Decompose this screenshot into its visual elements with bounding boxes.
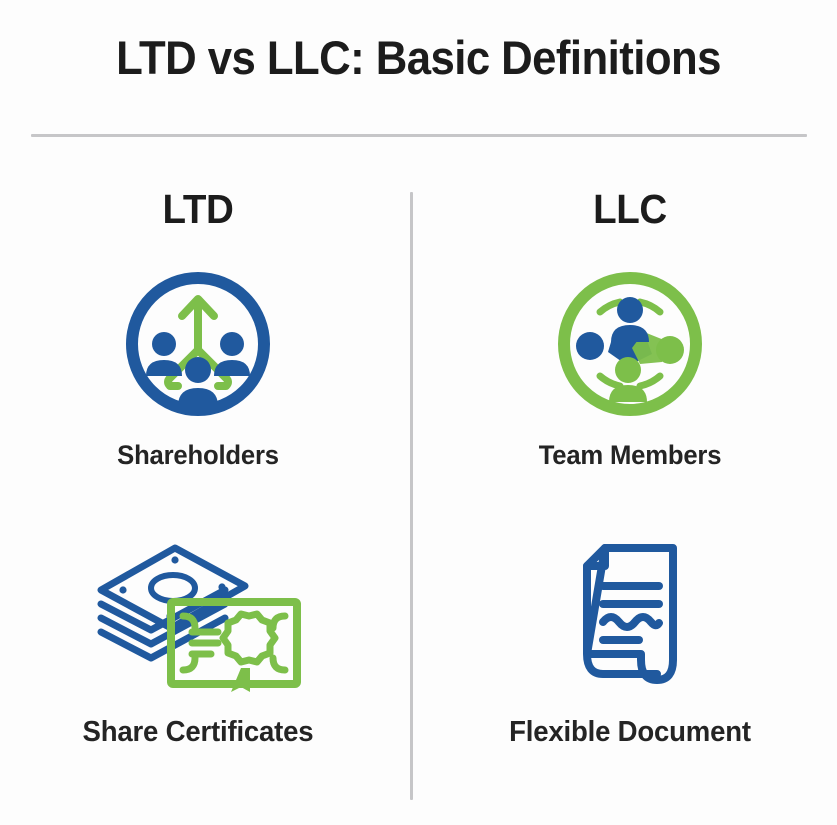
- shareholders-circle-icon: [120, 266, 276, 422]
- shareholders-icon-container: [8, 264, 388, 424]
- document-text-lines: [603, 586, 659, 640]
- person-left: [146, 332, 182, 376]
- ltd-item-shareholders: Shareholders: [8, 264, 388, 471]
- page-title: LTD vs LLC: Basic Definitions: [29, 30, 807, 85]
- column-header-ltd: LTD: [19, 186, 376, 233]
- flexible-document-icon: [569, 542, 691, 690]
- column-ltd: LTD: [8, 180, 388, 800]
- award-seal: [223, 614, 275, 662]
- share-certificates-icon: [93, 540, 303, 692]
- share-certificates-icon-container: [8, 536, 388, 696]
- column-llc: LLC: [440, 180, 820, 800]
- llc-item-team-members: Team Members: [440, 264, 820, 471]
- column-divider: [410, 192, 413, 800]
- llc-item-flexible-document: Flexible Document: [440, 536, 820, 749]
- node-right: [656, 336, 684, 364]
- person-right: [214, 332, 250, 376]
- ltd-item-share-certificates: Share Certificates: [8, 536, 388, 749]
- flexible-document-icon-container: [440, 536, 820, 696]
- ltd-item-label-shareholders: Shareholders: [18, 440, 379, 471]
- column-header-llc: LLC: [451, 186, 808, 233]
- team-members-network-icon: [552, 266, 708, 422]
- document-signature-line: [603, 617, 659, 627]
- certificate-icon: [171, 602, 297, 692]
- team-members-icon-container: [440, 264, 820, 424]
- node-left: [576, 332, 604, 360]
- infographic-canvas: LTD vs LLC: Basic Definitions LTD: [0, 0, 837, 825]
- ltd-item-label-share-certificates: Share Certificates: [18, 716, 379, 749]
- header-divider: [31, 134, 807, 137]
- llc-item-label-team-members: Team Members: [450, 440, 811, 471]
- llc-item-label-flexible-document: Flexible Document: [450, 716, 811, 749]
